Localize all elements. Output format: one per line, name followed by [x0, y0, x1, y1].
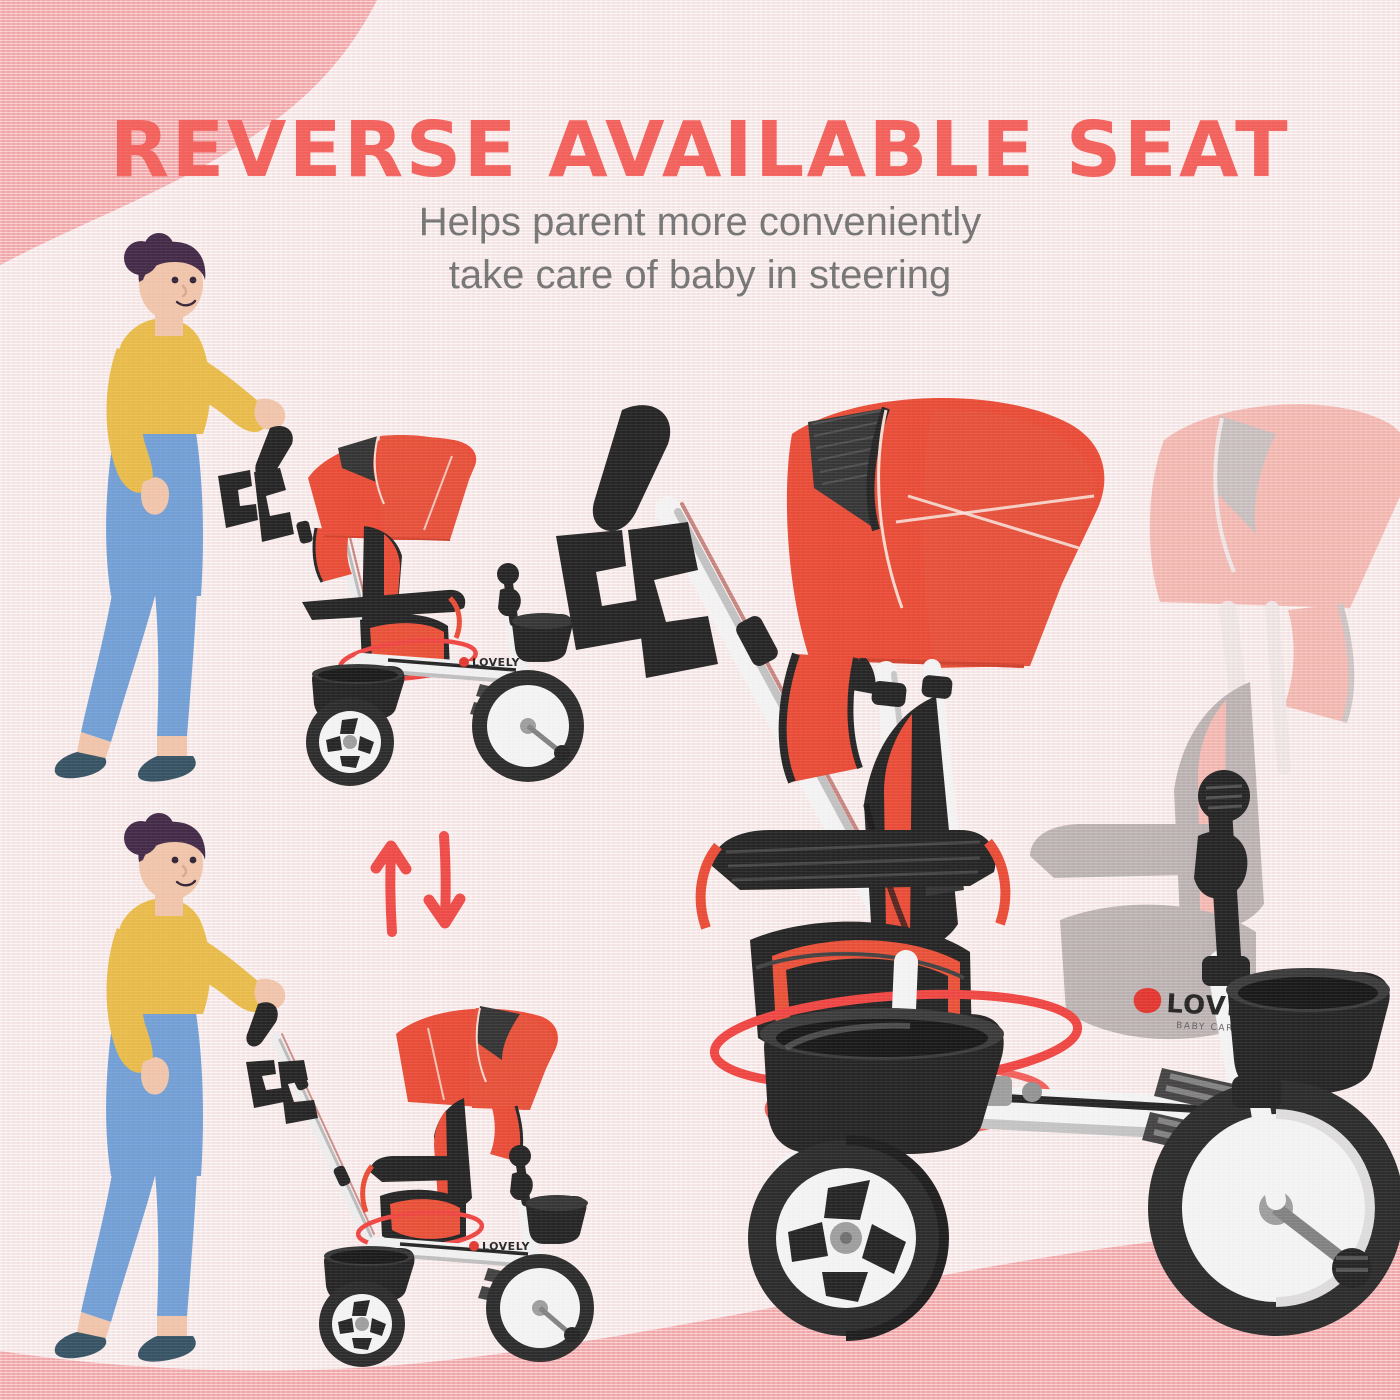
basket-inner — [330, 1250, 408, 1264]
hand-far — [141, 477, 169, 515]
handlebar-knob-icon — [497, 563, 519, 585]
hair-bun-2 — [144, 813, 174, 843]
brand-logo-text: LOVELY — [472, 656, 520, 669]
tricycle-illustration: LOVELY — [218, 426, 584, 786]
rear-wheel-center — [343, 735, 357, 749]
ankle-front — [157, 736, 187, 756]
safety-bar — [370, 1156, 469, 1182]
handle-bracket-2 — [254, 468, 294, 542]
infographic-canvas: REVERSE AVAILABLE SEAT Helps parent more… — [0, 0, 1400, 1400]
eye-left — [172, 857, 179, 864]
header-block: REVERSE AVAILABLE SEAT — [0, 112, 1400, 189]
leg-back — [81, 588, 155, 742]
hand-far — [141, 1057, 169, 1095]
cup-holder-inner — [1238, 977, 1378, 1009]
handlebar-grip — [498, 588, 521, 616]
logo-mark-icon — [469, 1241, 479, 1251]
arrow-up-icon — [390, 852, 392, 932]
logo-mark-icon — [1134, 988, 1162, 1013]
handle-bracket — [218, 470, 258, 528]
fork-collar — [1232, 1076, 1282, 1108]
tricycle-seat-reversed: LOVELY — [248, 990, 608, 1362]
canopy-clamp-2 — [921, 674, 953, 699]
shoe-front — [138, 756, 196, 782]
brand-logo-text: LOVELY — [482, 1240, 530, 1253]
eye-left — [172, 277, 179, 284]
safety-bar-strap-right — [988, 842, 1005, 924]
safety-bar-strap-left — [701, 846, 718, 928]
leg-front — [155, 590, 197, 736]
arrow-down-icon — [444, 836, 446, 916]
hair-bun-2 — [144, 233, 174, 263]
handlebar-knob-icon — [509, 1145, 531, 1167]
canopy-right-panel — [923, 410, 1096, 668]
basket-inner — [318, 668, 398, 682]
seat-cushion-red — [390, 1199, 460, 1239]
ghost-canopy-flap — [1284, 604, 1351, 722]
handle-bracket — [246, 1060, 284, 1108]
leg-front — [155, 1170, 197, 1316]
rear-wheel-center-bolt — [840, 1232, 852, 1244]
leg-back — [81, 1168, 155, 1322]
tricycle-hero-large: LOVELY BABY CARE — [560, 400, 1400, 1330]
canopy-clamp — [871, 680, 907, 707]
rear-wheel-center — [355, 1317, 369, 1331]
tricycle-hero-illustration: LOVELY BABY CARE — [556, 398, 1400, 1336]
ankle-front — [157, 1316, 187, 1336]
shoe-front — [138, 1336, 196, 1362]
page-title: REVERSE AVAILABLE SEAT — [0, 112, 1400, 189]
eye-right — [190, 857, 197, 864]
eye-right — [190, 277, 197, 284]
safety-bar-strap — [363, 1166, 372, 1212]
frame-pivot-bolt — [1022, 1082, 1042, 1102]
pole-collar — [296, 520, 314, 544]
logo-mark-icon — [459, 657, 469, 667]
ghost-frame-upright-2 — [1272, 608, 1284, 768]
seat-direction-arrows — [360, 828, 480, 938]
tricycle-illustration: LOVELY — [246, 1002, 594, 1367]
